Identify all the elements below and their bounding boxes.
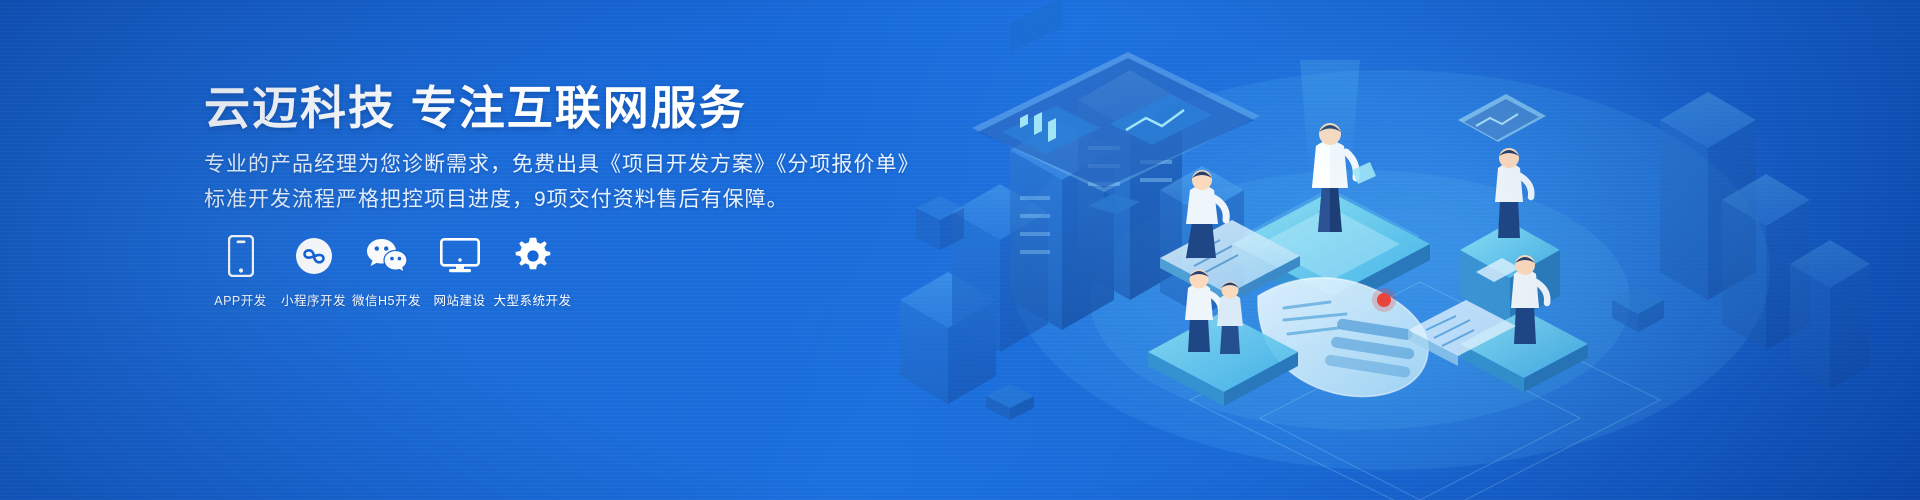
mobile-phone-icon bbox=[220, 233, 262, 279]
gear-icon bbox=[512, 233, 554, 279]
service-label-app: APP开发 bbox=[214, 290, 267, 309]
service-label-miniprogram: 小程序开发 bbox=[281, 290, 346, 309]
service-icon-row: APP开发 小程序开发 bbox=[204, 233, 569, 309]
mini-program-icon bbox=[293, 233, 335, 279]
banner-text-block: 云迈科技 专注互联网服务 专业的产品经理为您诊断需求，免费出具《项目开发方案》《… bbox=[204, 0, 924, 500]
service-label-website: 网站建设 bbox=[433, 290, 485, 309]
hero-banner: 云迈科技 专注互联网服务 专业的产品经理为您诊断需求，免费出具《项目开发方案》《… bbox=[0, 0, 1920, 500]
wechat-icon bbox=[366, 233, 408, 279]
service-item-system[interactable]: 大型系统开发 bbox=[496, 233, 569, 309]
page-title: 云迈科技 专注互联网服务 bbox=[204, 72, 747, 138]
service-label-system: 大型系统开发 bbox=[494, 290, 572, 309]
service-item-app[interactable]: APP开发 bbox=[204, 233, 277, 309]
subtitle-line-1: 专业的产品经理为您诊断需求，免费出具《项目开发方案》《分项报价单》 bbox=[204, 148, 920, 178]
isometric-illustration bbox=[860, 0, 1920, 500]
service-item-wechat[interactable]: 微信H5开发 bbox=[350, 233, 423, 309]
service-item-website[interactable]: 网站建设 bbox=[423, 233, 496, 309]
monitor-icon bbox=[439, 233, 481, 279]
subtitle-line-2: 标准开发流程严格把控项目进度，9项交付资料售后有保障。 bbox=[204, 183, 789, 213]
service-item-miniprogram[interactable]: 小程序开发 bbox=[277, 233, 350, 309]
service-label-wechat: 微信H5开发 bbox=[352, 290, 421, 309]
